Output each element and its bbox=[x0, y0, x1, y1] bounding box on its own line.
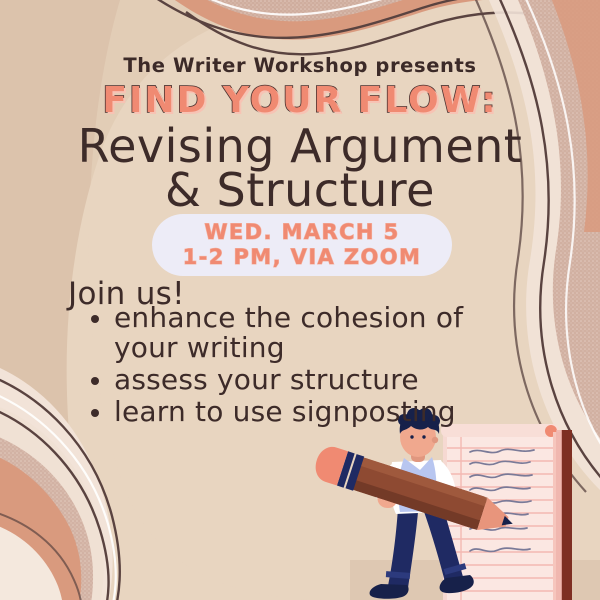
event-date: WED. MARCH 5 bbox=[204, 220, 399, 245]
event-date-badge: WED. MARCH 5 1-2 PM, VIA ZOOM bbox=[152, 214, 452, 276]
event-time-platform: 1-2 PM, VIA ZOOM bbox=[183, 245, 422, 270]
presenter-line: The Writer Workshop presents bbox=[0, 54, 600, 77]
poster-canvas: The Writer Workshop presents FIND YOUR F… bbox=[0, 0, 600, 600]
page-title: Revising Argument & Structure bbox=[0, 124, 600, 212]
list-item: assess your structure bbox=[88, 365, 498, 395]
title-accent: FIND YOUR FLOW: bbox=[0, 80, 600, 121]
list-item: learn to use signposting bbox=[88, 397, 498, 427]
title-line-2: & Structure bbox=[0, 168, 600, 212]
benefits-list: enhance the cohesion of your writing ass… bbox=[88, 303, 498, 429]
list-item: enhance the cohesion of your writing bbox=[88, 303, 498, 363]
